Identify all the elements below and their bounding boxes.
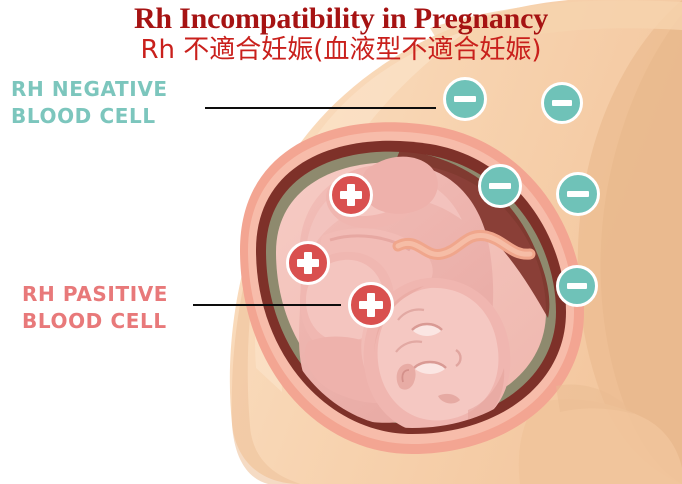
- rh-negative-cell-4: [556, 172, 600, 216]
- minus-icon: [489, 183, 510, 189]
- minus-icon: [567, 283, 587, 288]
- label-rh-negative-line2: BLOOD CELL: [11, 103, 168, 130]
- minus-icon: [454, 96, 475, 102]
- illustration-canvas: Rh Incompatibility in Pregnancy Rh 不適合妊娠…: [0, 0, 682, 484]
- plus-icon: [340, 184, 363, 207]
- rh-negative-cell-5: [556, 265, 598, 307]
- pregnancy-illustration: [0, 0, 682, 484]
- rh-positive-cell-1: [329, 173, 373, 217]
- rh-negative-cell-2: [541, 82, 583, 124]
- minus-icon: [552, 100, 572, 105]
- plus-icon: [359, 293, 383, 317]
- label-rh-positive-blood-cell: RH PASITIVE BLOOD CELL: [22, 281, 168, 335]
- rh-negative-cell-3: [478, 164, 522, 208]
- leader-line-rh-positive: [193, 304, 341, 306]
- label-rh-negative-line1: RH NEGATIVE: [11, 77, 168, 101]
- label-rh-positive-line1: RH PASITIVE: [22, 282, 168, 306]
- plus-icon: [297, 252, 320, 275]
- minus-icon: [567, 191, 588, 197]
- rh-negative-cell-1: [443, 77, 487, 121]
- rh-positive-cell-2: [286, 241, 330, 285]
- rh-positive-cell-3: [348, 282, 394, 328]
- label-rh-negative-blood-cell: RH NEGATIVE BLOOD CELL: [11, 76, 168, 130]
- label-rh-positive-line2: BLOOD CELL: [22, 308, 168, 335]
- leader-line-rh-negative: [205, 107, 436, 109]
